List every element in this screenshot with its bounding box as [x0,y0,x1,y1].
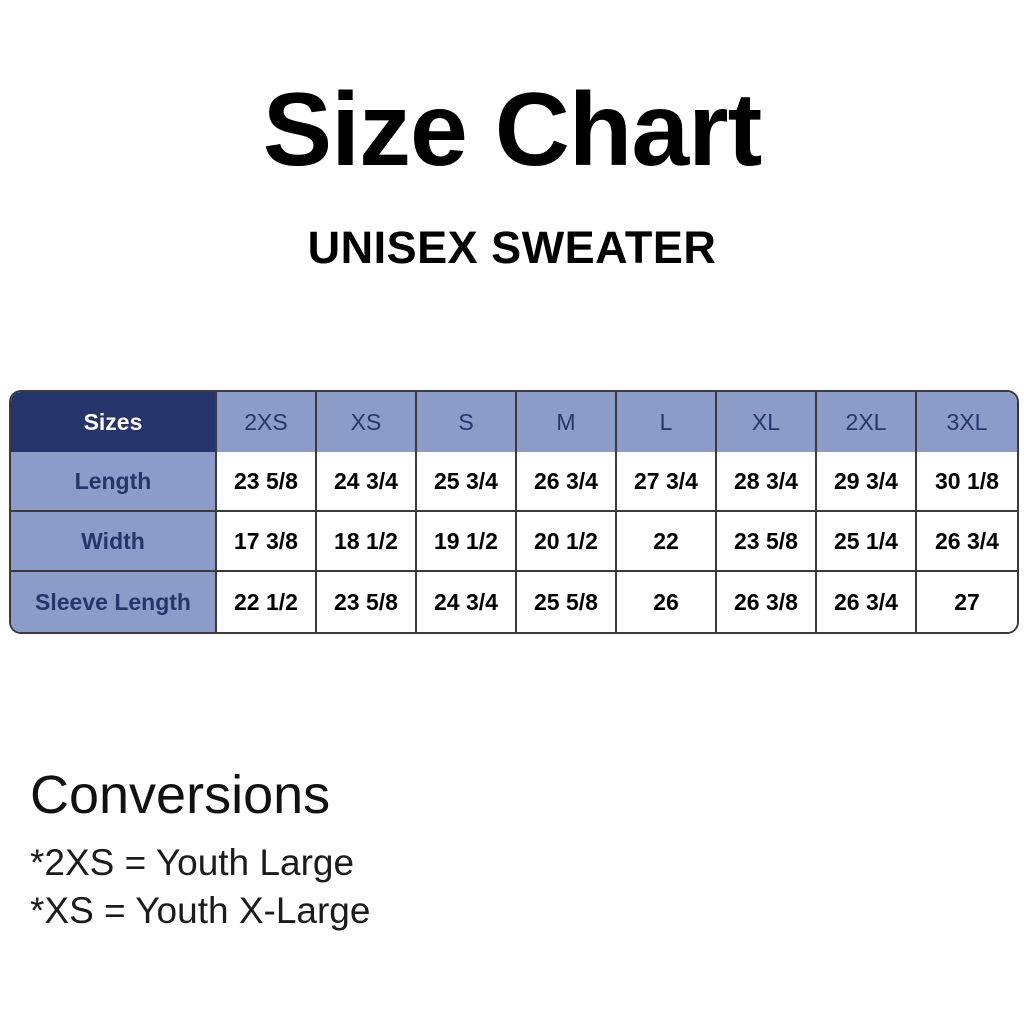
column-header-xl: XL [717,392,817,452]
row-label-width: Width [11,512,217,572]
cell-sleeve-2xl: 26 3/4 [817,572,917,632]
cell-length-s: 25 3/4 [417,452,517,512]
column-header-s: S [417,392,517,452]
cell-sleeve-s: 24 3/4 [417,572,517,632]
cell-sleeve-l: 26 [617,572,717,632]
row-label-sleeve-length: Sleeve Length [11,572,217,632]
column-header-3xl: 3XL [917,392,1017,452]
table-row: Width 17 3/8 18 1/2 19 1/2 20 1/2 22 23 … [11,512,1017,572]
cell-length-m: 26 3/4 [517,452,617,512]
page-subtitle: UNISEX SWEATER [0,186,1024,274]
cell-length-xs: 24 3/4 [317,452,417,512]
cell-width-2xs: 17 3/8 [217,512,317,572]
title-block: Size Chart UNISEX SWEATER [0,0,1024,274]
column-header-xs: XS [317,392,417,452]
row-label-length: Length [11,452,217,512]
cell-width-m: 20 1/2 [517,512,617,572]
size-chart-page: Size Chart UNISEX SWEATER Sizes 2XS XS S… [0,0,1024,1024]
cell-width-2xl: 25 1/4 [817,512,917,572]
table-row: Sleeve Length 22 1/2 23 5/8 24 3/4 25 5/… [11,572,1017,632]
cell-sleeve-m: 25 5/8 [517,572,617,632]
conversion-note-2xs: *2XS = Youth Large [30,839,630,887]
cell-width-xs: 18 1/2 [317,512,417,572]
column-header-m: M [517,392,617,452]
cell-width-s: 19 1/2 [417,512,517,572]
cell-length-xl: 28 3/4 [717,452,817,512]
conversions-section: Conversions *2XS = Youth Large *XS = You… [30,765,630,935]
table-header-row: Sizes 2XS XS S M L XL 2XL 3XL [11,392,1017,452]
cell-length-3xl: 30 1/8 [917,452,1017,512]
cell-width-l: 22 [617,512,717,572]
size-table: Sizes 2XS XS S M L XL 2XL 3XL Length 23 … [9,390,1019,634]
cell-sleeve-3xl: 27 [917,572,1017,632]
table-corner-label: Sizes [11,392,217,452]
cell-sleeve-xs: 23 5/8 [317,572,417,632]
cell-length-2xl: 29 3/4 [817,452,917,512]
column-header-2xl: 2XL [817,392,917,452]
conversions-heading: Conversions [30,765,630,825]
cell-width-xl: 23 5/8 [717,512,817,572]
cell-width-3xl: 26 3/4 [917,512,1017,572]
column-header-2xs: 2XS [217,392,317,452]
cell-length-2xs: 23 5/8 [217,452,317,512]
page-title: Size Chart [0,74,1024,186]
size-table-container: Sizes 2XS XS S M L XL 2XL 3XL Length 23 … [9,390,1015,634]
cell-sleeve-2xs: 22 1/2 [217,572,317,632]
table-row: Length 23 5/8 24 3/4 25 3/4 26 3/4 27 3/… [11,452,1017,512]
conversion-note-xs: *XS = Youth X-Large [30,887,630,935]
cell-length-l: 27 3/4 [617,452,717,512]
column-header-l: L [617,392,717,452]
cell-sleeve-xl: 26 3/8 [717,572,817,632]
